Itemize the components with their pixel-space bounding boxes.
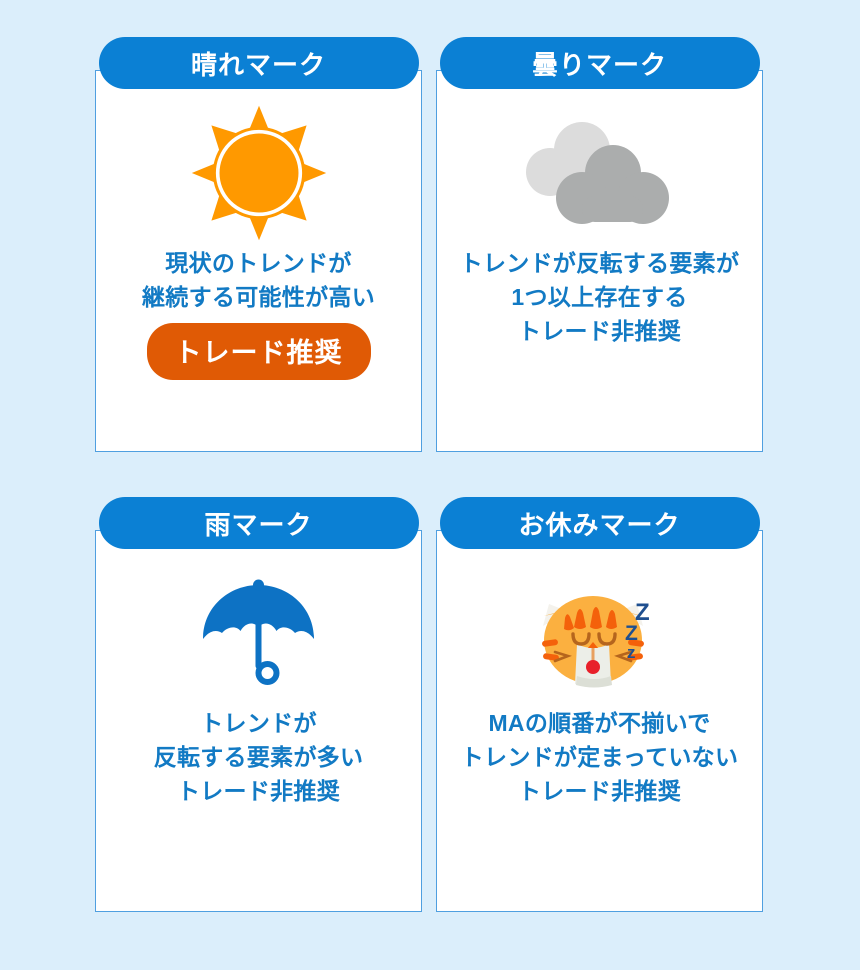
card-line: 1つ以上存在する [437, 280, 762, 314]
card-line: MAの順番が不揃いで [437, 706, 762, 740]
badge-wrap: トレード推奨 [147, 314, 371, 380]
card-text-sunny: 現状のトレンドが 継続する可能性が高い [96, 246, 421, 314]
card-tab-rainy: 雨マーク [99, 497, 419, 549]
sleeping-cat-icon: Z Z z [437, 531, 762, 706]
card-line: 現状のトレンドが [96, 246, 421, 280]
card-line: トレンドが [96, 706, 421, 740]
card-line: トレード非推奨 [437, 314, 762, 348]
card-line: トレンドが定まっていない [437, 740, 762, 774]
card-tab-rest: お休みマーク [440, 497, 760, 549]
card-tab-cloudy: 曇りマーク [440, 37, 760, 89]
card-grid: 晴れマーク [95, 70, 765, 912]
sun-icon [96, 71, 421, 246]
card-line: トレンドが反転する要素が [437, 246, 762, 280]
card-text-rainy: トレンドが 反転する要素が多い トレード非推奨 [96, 706, 421, 808]
card-line: トレード非推奨 [96, 774, 421, 808]
weather-mark-legend: 晴れマーク [0, 0, 860, 970]
card-cloudy: 曇りマーク [436, 70, 763, 452]
svg-text:z: z [627, 643, 636, 662]
svg-text:Z: Z [625, 622, 638, 645]
status-badge-trade-recommended: トレード推奨 [147, 323, 371, 380]
card-line: トレード非推奨 [437, 774, 762, 808]
card-sunny: 晴れマーク [95, 70, 422, 452]
card-rainy: 雨マーク トレンドが 反転する要素が多い トレード非推奨 [95, 530, 422, 912]
card-line: 継続する可能性が高い [96, 280, 421, 314]
card-tab-sunny: 晴れマーク [99, 37, 419, 89]
card-text-rest: MAの順番が不揃いで トレンドが定まっていない トレード非推奨 [437, 706, 762, 808]
clouds-icon [437, 71, 762, 246]
umbrella-icon [96, 531, 421, 706]
card-line: 反転する要素が多い [96, 740, 421, 774]
card-text-cloudy: トレンドが反転する要素が 1つ以上存在する トレード非推奨 [437, 246, 762, 348]
card-rest: お休みマーク [436, 530, 763, 912]
